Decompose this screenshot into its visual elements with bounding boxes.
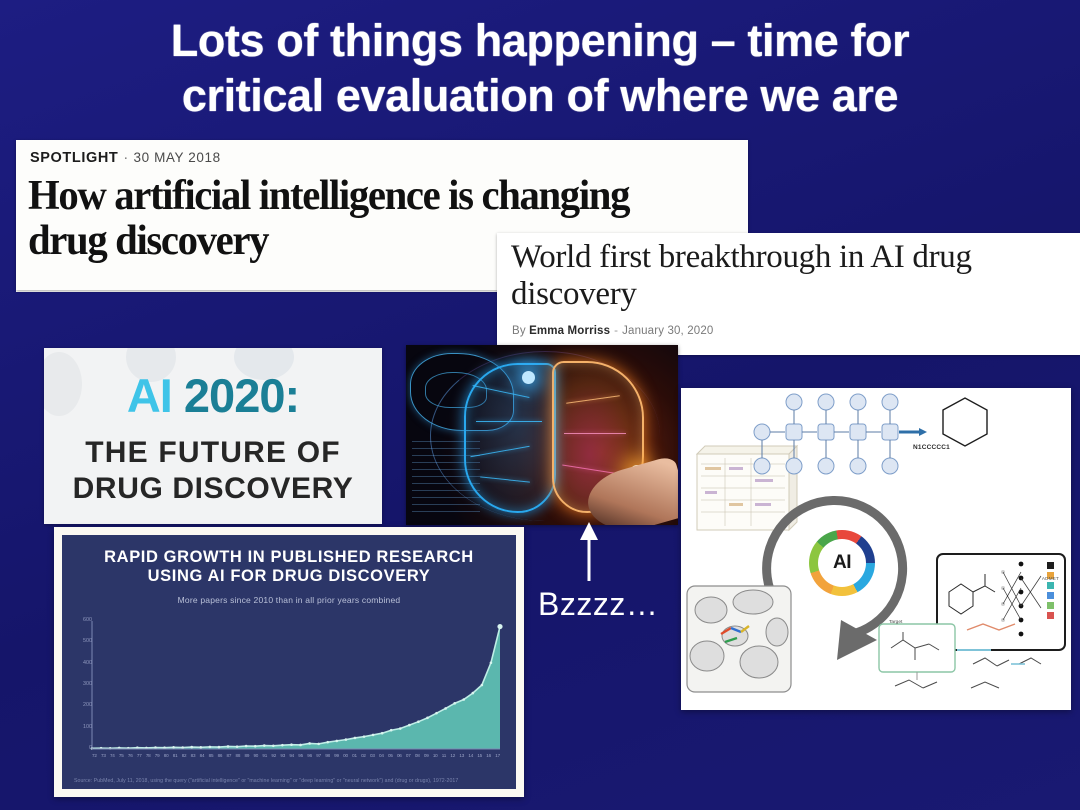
chart-x-tick: 83 <box>191 753 196 758</box>
chart-x-tick: 10 <box>433 753 438 758</box>
chart-point <box>408 724 411 727</box>
poster-ai-word: AI <box>127 369 172 422</box>
world-headline: World first breakthrough in AI drug disc… <box>511 239 1076 314</box>
chart-x-tick: 09 <box>424 753 429 758</box>
chart-x-tick: 12 <box>450 753 455 758</box>
chart-area-fill <box>92 627 500 749</box>
chart-x-tick: 77 <box>137 753 142 758</box>
chart-point <box>462 698 465 701</box>
chart-point <box>272 745 275 748</box>
chart-x-tick: 98 <box>325 753 330 758</box>
chart-x-tick: 80 <box>164 753 169 758</box>
chart-y-tick: 100 <box>83 725 92 730</box>
chart-x-tick: 86 <box>218 753 223 758</box>
chart-x-tick: 85 <box>209 753 214 758</box>
byline-date: January 30, 2020 <box>622 325 713 337</box>
chart-point <box>245 745 248 748</box>
nature-kicker-separator: · <box>118 150 133 166</box>
science-diagram-ai-drug-discovery: N1CCCCC1 AI ADMET Target <box>681 388 1071 710</box>
chart-source-note: Source: PubMed, July 11, 2018, using the… <box>74 778 508 784</box>
poster-headline-row: AI 2020: <box>44 372 382 419</box>
chart-x-tick: 79 <box>155 753 160 758</box>
nature-date: 30 MAY 2018 <box>134 150 221 165</box>
chart-x-tick: 90 <box>253 753 258 758</box>
chart-point <box>444 707 447 710</box>
chart-y-tick: 300 <box>83 682 92 687</box>
poster-ai-2020: AI 2020: THE FUTURE OF DRUG DISCOVERY <box>44 348 382 524</box>
chart-point <box>236 745 239 748</box>
chart-x-tick: 72 <box>92 753 97 758</box>
chart-x-tick: 89 <box>244 753 249 758</box>
chart-x-tick: 95 <box>298 753 303 758</box>
chart-point <box>435 712 438 715</box>
byline-author: Emma Morriss <box>529 325 610 337</box>
chart-subtitle: More papers since 2010 than in all prior… <box>62 595 516 605</box>
chart-x-tick: 96 <box>307 753 312 758</box>
chart-x-tick: 92 <box>271 753 276 758</box>
chart-point <box>417 720 420 723</box>
chart-x-tick: 16 <box>486 753 491 758</box>
chart-x-tick: 97 <box>316 753 321 758</box>
chart-x-tick: 91 <box>262 753 267 758</box>
chart-point <box>326 741 329 744</box>
world-headline-line-1: World first breakthrough in AI drug <box>511 239 1076 276</box>
chart-point <box>497 624 502 629</box>
chart-point <box>354 737 357 740</box>
science-diagram-svg <box>681 388 1071 710</box>
chart-point <box>426 717 429 720</box>
ai-logo-badge: AI <box>809 530 875 596</box>
up-arrow-icon <box>578 521 600 583</box>
news-clipping-world-first: World first breakthrough in AI drug disc… <box>497 233 1080 355</box>
chart-y-tick: 600 <box>83 618 92 623</box>
chart-point <box>490 662 493 665</box>
chart-point <box>453 702 456 705</box>
chart-x-tick: 13 <box>459 753 464 758</box>
chart-point <box>345 738 348 741</box>
chart-x-tick: 93 <box>280 753 285 758</box>
chart-y-tick: 400 <box>83 661 92 666</box>
world-byline: By Emma Morriss-January 30, 2020 <box>512 325 713 337</box>
spark-glow-icon <box>522 371 535 384</box>
chart-x-tick: 06 <box>397 753 402 758</box>
chart-point <box>372 734 375 737</box>
chart-x-tick: 82 <box>182 753 187 758</box>
poster-subtitle-line-1: THE FUTURE OF <box>44 436 382 470</box>
brain-trace <box>476 421 542 422</box>
chart-point <box>172 746 175 749</box>
chart-x-tick: 76 <box>128 753 133 758</box>
protein-pocket-image <box>687 586 791 692</box>
title-line-1: Lots of things happening – time for <box>0 14 1080 69</box>
chart-y-axis-labels: 0100200300400500600 <box>66 615 92 751</box>
chart-point <box>290 743 293 746</box>
chart-point <box>209 746 212 749</box>
chart-point <box>336 740 339 743</box>
chart-x-tick: 99 <box>334 753 339 758</box>
chart-point <box>308 742 311 745</box>
chart-point <box>390 729 393 732</box>
byline-separator: - <box>610 325 622 337</box>
chart-x-tick: 73 <box>101 753 106 758</box>
chart-point <box>254 745 257 748</box>
chart-x-tick: 08 <box>415 753 420 758</box>
chart-point <box>263 744 266 747</box>
chart-x-tick: 11 <box>442 753 446 758</box>
chart-x-tick: 74 <box>110 753 115 758</box>
brain-trace <box>564 433 626 434</box>
page-title: Lots of things happening – time for crit… <box>0 14 1080 124</box>
chart-published-research: RAPID GROWTH IN PUBLISHED RESEARCH USING… <box>54 527 524 797</box>
chart-y-tick: 200 <box>83 703 92 708</box>
chart-point <box>299 744 302 747</box>
chart-x-tick: 94 <box>289 753 294 758</box>
chart-body: RAPID GROWTH IN PUBLISHED RESEARCH USING… <box>62 535 516 789</box>
nature-kicker-row: SPOTLIGHT·30 MAY 2018 <box>30 150 221 166</box>
poster-subtitle-line-2: DRUG DISCOVERY <box>44 472 382 506</box>
chart-x-tick: 05 <box>388 753 393 758</box>
chart-x-tick: 75 <box>119 753 124 758</box>
chart-y-tick: 500 <box>83 639 92 644</box>
chart-point <box>200 746 203 749</box>
chart-title-line-2: USING AI FOR DRUG DISCOVERY <box>62 567 516 586</box>
molecule-ring <box>943 398 987 446</box>
chart-point <box>181 746 184 749</box>
smiles-string-label: N1CCCCC1 <box>913 444 950 451</box>
chart-point <box>218 746 221 749</box>
ai-logo-text: AI <box>809 530 875 596</box>
chart-x-axis-labels: 7273747576777879808182838485868788899091… <box>92 753 500 758</box>
admet-label: ADMET <box>1042 576 1059 581</box>
target-label: Target <box>889 620 902 625</box>
chart-x-tick: 02 <box>361 753 366 758</box>
byline-prefix: By <box>512 325 526 337</box>
nature-headline-line-1: How artificial intelligence is changing <box>28 174 721 219</box>
chart-point <box>154 746 157 749</box>
chart-point <box>472 692 475 695</box>
admet-neural-net-panel <box>937 554 1065 650</box>
chart-x-tick: 17 <box>495 753 500 758</box>
chart-x-tick: 00 <box>343 753 348 758</box>
slide-canvas: Lots of things happening – time for crit… <box>0 0 1080 810</box>
chart-point <box>227 745 230 748</box>
chart-point <box>399 727 402 730</box>
chart-x-tick: 15 <box>477 753 482 758</box>
world-headline-line-2: discovery <box>511 276 1076 313</box>
poster-year-word: 2020: <box>184 369 299 422</box>
chart-point <box>190 746 193 749</box>
chart-area-svg <box>92 621 500 749</box>
nature-kicker-label: SPOTLIGHT <box>30 150 118 166</box>
chart-point <box>381 732 384 735</box>
brain-ai-image <box>406 345 678 525</box>
chart-x-tick: 01 <box>352 753 357 758</box>
chart-x-tick: 81 <box>173 753 178 758</box>
chart-x-tick: 78 <box>146 753 151 758</box>
chart-point <box>281 744 284 747</box>
data-table-card <box>697 446 797 530</box>
chart-point <box>317 743 320 746</box>
chart-x-tick: 07 <box>406 753 411 758</box>
chart-title-line-1: RAPID GROWTH IN PUBLISHED RESEARCH <box>62 548 516 567</box>
chart-point <box>481 684 484 687</box>
chart-x-tick: 04 <box>379 753 384 758</box>
chart-plot-area <box>92 621 500 749</box>
chart-x-tick: 87 <box>227 753 232 758</box>
chart-x-tick: 84 <box>200 753 205 758</box>
title-line-2: critical evaluation of where we are <box>0 69 1080 124</box>
chart-x-tick: 88 <box>236 753 241 758</box>
chart-title: RAPID GROWTH IN PUBLISHED RESEARCH USING… <box>62 548 516 586</box>
chart-x-tick: 03 <box>370 753 375 758</box>
chart-x-tick: 14 <box>468 753 473 758</box>
chart-point <box>363 735 366 738</box>
bzzzz-annotation-label: Bzzzz… <box>538 586 658 623</box>
